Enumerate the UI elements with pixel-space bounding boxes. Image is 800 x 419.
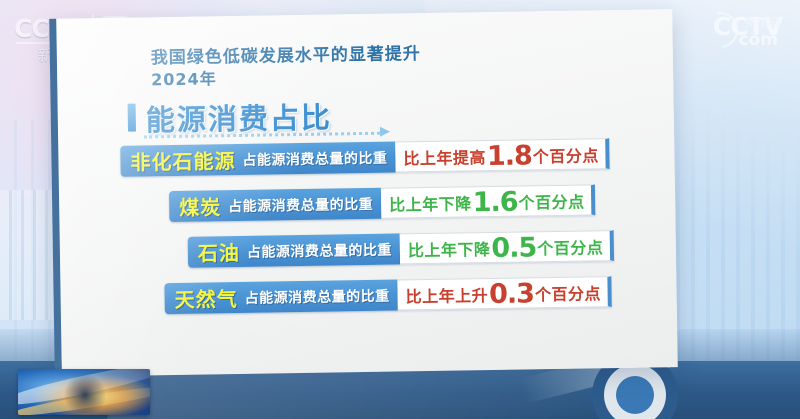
energy-stat-row: 天然气占能源消费总量的比重比上年上升0.3个百分点 xyxy=(164,276,612,314)
energy-type-tag: 天然气占能源消费总量的比重 xyxy=(164,279,397,314)
change-value: 0.5 xyxy=(491,232,536,264)
change-value: 0.3 xyxy=(489,278,534,310)
page-subtitle: 2024年 xyxy=(151,65,421,91)
change-unit: 个百分点 xyxy=(537,234,603,259)
change-unit: 个百分点 xyxy=(518,188,584,213)
change-unit: 个百分点 xyxy=(533,142,599,167)
decorative-circle-dot xyxy=(616,376,654,414)
graphic-center-mask xyxy=(64,373,106,413)
watermark-chinese: 央视网 xyxy=(744,14,780,31)
energy-type-description: 占能源消费总量的比重 xyxy=(228,193,373,215)
change-value-box: 比上年提高1.8个百分点 xyxy=(395,138,610,172)
change-prefix: 比上年下降 xyxy=(389,190,472,215)
change-value-box: 比上年下降1.6个百分点 xyxy=(381,184,596,218)
energy-type-tag: 非化石能源占能源消费总量的比重 xyxy=(120,141,395,176)
section-heading: 能源消费占比 xyxy=(128,95,429,144)
bottom-left-graphic xyxy=(18,369,150,415)
change-prefix: 比上年下降 xyxy=(408,236,491,261)
energy-type-tag: 石油占能源消费总量的比重 xyxy=(188,233,400,267)
watermark-suffix: com xyxy=(739,30,778,50)
change-value-box: 比上年上升0.3个百分点 xyxy=(397,276,612,310)
energy-stat-row: 石油占能源消费总量的比重比上年下降0.5个百分点 xyxy=(188,230,615,268)
change-prefix: 比上年上升 xyxy=(405,282,488,307)
heading-arrow-icon xyxy=(380,127,390,137)
page-title: 我国绿色低碳发展水平的显著提升 xyxy=(151,43,421,69)
energy-type-tag: 煤炭占能源消费总量的比重 xyxy=(169,188,381,222)
energy-type-description: 占能源消费总量的比重 xyxy=(244,285,389,307)
energy-type-name: 天然气 xyxy=(174,283,237,313)
info-card-inner: 我国绿色低碳发展水平的显著提升 2024年 能源消费占比 非化石能源占能源消费总… xyxy=(56,9,678,377)
energy-stat-row: 非化石能源占能源消费总量的比重比上年提高1.8个百分点 xyxy=(120,138,610,177)
energy-stat-row: 煤炭占能源消费总量的比重比上年下降1.6个百分点 xyxy=(169,184,596,222)
cctv-com-watermark: CCTV 央视网 com xyxy=(713,12,782,41)
change-value: 1.6 xyxy=(472,187,517,219)
change-prefix: 比上年提高 xyxy=(403,144,486,169)
energy-type-description: 占能源消费总量的比重 xyxy=(247,239,392,261)
change-value: 1.8 xyxy=(487,140,532,172)
change-unit: 个百分点 xyxy=(535,280,601,305)
info-card: 我国绿色低碳发展水平的显著提升 2024年 能源消费占比 非化石能源占能源消费总… xyxy=(49,9,678,377)
energy-type-name: 煤炭 xyxy=(179,191,221,221)
heading-accent-bar xyxy=(128,104,136,132)
energy-type-description: 占能源消费总量的比重 xyxy=(242,147,387,169)
title-block: 我国绿色低碳发展水平的显著提升 2024年 xyxy=(151,43,422,91)
energy-type-name: 非化石能源 xyxy=(130,145,235,176)
change-value-box: 比上年下降0.5个百分点 xyxy=(400,230,615,264)
screenshot-stage: CCTV 13 新 闻 CCTV 央视网 com 我国绿色低碳发展水平的显著提升… xyxy=(0,0,800,419)
energy-type-name: 石油 xyxy=(198,237,240,267)
